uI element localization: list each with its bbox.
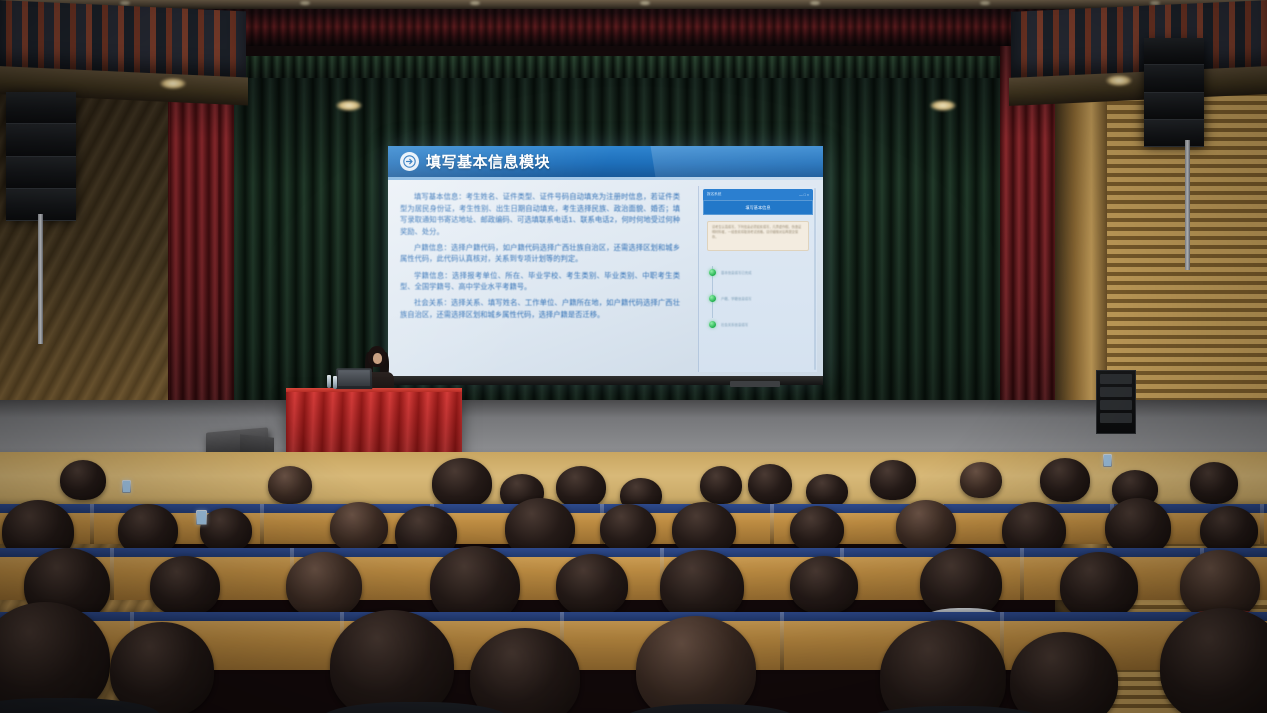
- audience-head: [60, 460, 106, 500]
- audience-head: [1040, 458, 1090, 502]
- audience-head: [806, 474, 848, 508]
- slide-paragraph: 学籍信息：选择报考单位、所在、毕业学校、考生类别、毕业类别、中职考生类型、全国学…: [400, 270, 680, 293]
- screen-mount-bracket: [730, 381, 780, 387]
- line-array-speaker-left: [6, 92, 76, 217]
- downlight-icon: [930, 100, 956, 111]
- audience-head: [110, 622, 214, 713]
- audience-head: [556, 554, 628, 616]
- downlight-icon: [160, 78, 186, 89]
- audience-head: [286, 552, 362, 618]
- audience-head: [1060, 552, 1138, 620]
- projection-screen: 填写基本信息模块 填写基本信息：考生姓名、证件类型、证件号码自动填充为注册时信息…: [388, 146, 823, 380]
- panel-step-item: 基本信息填写已完成: [709, 259, 813, 285]
- water-bottle: [327, 375, 331, 388]
- audience-head: [600, 504, 656, 552]
- audience-head: [960, 462, 1002, 498]
- audience-head: [790, 506, 844, 552]
- audience-head: [748, 464, 792, 504]
- slide-surface: 填写基本信息模块 填写基本信息：考生姓名、证件类型、证件号码自动填充为注册时信息…: [388, 146, 823, 380]
- audience-head: [1190, 462, 1238, 504]
- audience-head: [268, 466, 312, 504]
- panel-step-label: 基本信息填写已完成: [721, 270, 752, 275]
- ceiling-light-strip: [0, 1, 1267, 7]
- panel-step-label: 户籍、学籍信息填写: [721, 296, 752, 301]
- panel-header-label: 填写基本信息: [745, 205, 770, 211]
- audience-head: [1200, 506, 1258, 554]
- panel-scrollbar: [814, 188, 816, 370]
- panel-header-bar: 填写基本信息: [703, 200, 813, 215]
- audience-head: [200, 508, 252, 552]
- stage-curtain-green-swag: [228, 56, 1018, 78]
- audience-head: [790, 556, 858, 614]
- step-dot-green-icon: [709, 321, 716, 328]
- audience-head: [870, 460, 916, 500]
- panel-step-list: 基本信息填写已完成 户籍、学籍信息填写 社会关系信息填写: [709, 259, 813, 337]
- audience-head: [636, 616, 756, 713]
- speaker-mount-pole-left: [38, 214, 43, 344]
- line-array-speaker-right: [1144, 38, 1204, 143]
- panel-window-titlebar: 报名系统 — □ ×: [703, 189, 813, 200]
- audience-area: [0, 452, 1267, 713]
- smartphone: [122, 480, 131, 493]
- slide-header: 填写基本信息模块: [388, 146, 823, 177]
- slide-title: 填写基本信息模块: [426, 151, 550, 172]
- audience-head: [330, 610, 454, 713]
- smartphone: [196, 510, 207, 525]
- auditorium-scene: 填写基本信息模块 填写基本信息：考生姓名、证件类型、证件号码自动填充为注册时信息…: [0, 0, 1267, 713]
- audience-head: [556, 466, 606, 508]
- presenter-face: [373, 353, 382, 364]
- panel-window-controls: — □ ×: [799, 193, 809, 197]
- audience-shoulders: [620, 704, 800, 713]
- panel-step-item: 户籍、学籍信息填写: [709, 285, 813, 311]
- slide-paragraph: 户籍信息：选择户籍代码，如户籍代码选择广西壮族自治区，还需选择区划和城乡属性代码…: [400, 242, 680, 265]
- water-bottle: [333, 376, 337, 389]
- smartphone: [1103, 454, 1112, 467]
- panel-notice-text: 请考生认真填写，下列信息必须如实填写，凡弄虚作假、伪造证明材料者，一经查实将取消…: [712, 225, 804, 241]
- step-dot-green-icon: [709, 269, 716, 276]
- slide-title-underline: [388, 177, 823, 180]
- presenter-laptop: [336, 368, 373, 389]
- slide-paragraph: 社会关系：选择关系、填写姓名、工作单位、户籍所在地，如户籍代码选择广西壮族自治区…: [400, 297, 680, 320]
- speaker-mount-pole-right: [1185, 140, 1190, 270]
- slide-paragraph: 填写基本信息：考生姓名、证件类型、证件号码自动填充为注册时信息，若证件类型为居民…: [400, 191, 680, 237]
- amplifier-rack: [1096, 370, 1136, 434]
- audience-head: [330, 502, 388, 552]
- downlight-icon: [336, 100, 362, 111]
- step-dot-green-icon: [709, 295, 716, 302]
- panel-notice-box: 请考生认真填写，下列信息必须如实填写，凡弄虚作假、伪造证明材料者，一经查实将取消…: [707, 221, 809, 251]
- arrow-right-circle-icon: [400, 152, 419, 171]
- audience-head: [700, 466, 742, 504]
- panel-step-label: 社会关系信息填写: [721, 322, 748, 327]
- panel-step-item: 社会关系信息填写: [709, 311, 813, 337]
- audience-head: [150, 556, 220, 616]
- slide-body-text: 填写基本信息：考生姓名、证件类型、证件号码自动填充为注册时信息，若证件类型为居民…: [388, 182, 688, 380]
- audience-head: [896, 500, 956, 552]
- panel-window-title: 报名系统: [707, 192, 721, 197]
- audience-head: [432, 458, 492, 508]
- downlight-icon: [1106, 75, 1132, 86]
- slide-screenshot-panel: 报名系统 — □ × 填写基本信息 请考生认真填写，下列信息必须如实填写，凡弄虚…: [698, 186, 817, 372]
